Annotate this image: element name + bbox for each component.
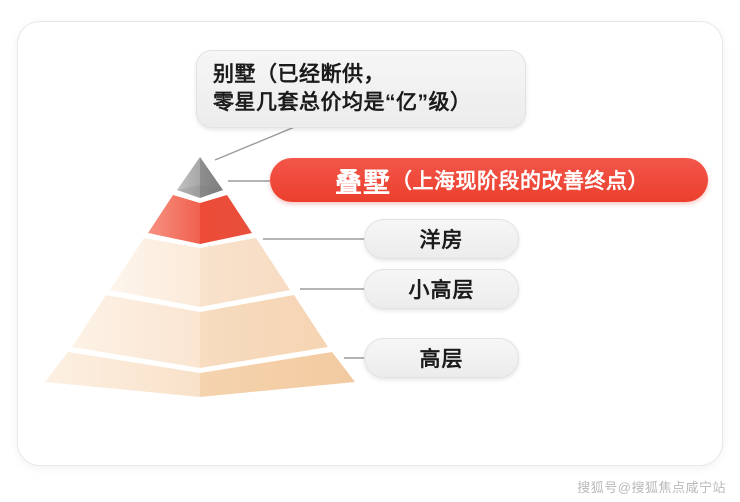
label-dieshu-sub: （上海现阶段的改善终点） xyxy=(391,165,649,195)
label-yangfang[interactable]: 洋房 xyxy=(364,219,519,259)
watermark: 搜狐号@搜狐焦点咸宁站 xyxy=(577,477,726,496)
pyramid-level-yangfang xyxy=(110,238,290,307)
pyramid-level-dieshu xyxy=(148,195,252,244)
label-gaoceng-text: 高层 xyxy=(420,343,464,373)
label-gaoceng[interactable]: 高层 xyxy=(364,338,519,378)
diagram-canvas: 别墅（已经断供， 零星几套总价均是“亿”级） 叠墅 （上海现阶段的改善终点） 洋… xyxy=(0,0,740,502)
pyramid-level-villa xyxy=(177,157,223,198)
label-dieshu-highlight[interactable]: 叠墅 （上海现阶段的改善终点） xyxy=(270,158,708,202)
label-dieshu-main: 叠墅 xyxy=(335,161,391,200)
label-xiaogaoceng-text: 小高层 xyxy=(409,274,475,304)
label-yangfang-text: 洋房 xyxy=(420,224,464,254)
label-villa-text: 别墅（已经断供， 零星几套总价均是“亿”级） xyxy=(213,61,472,116)
label-xiaogaoceng[interactable]: 小高层 xyxy=(364,269,519,309)
label-villa[interactable]: 别墅（已经断供， 零星几套总价均是“亿”级） xyxy=(196,50,526,128)
